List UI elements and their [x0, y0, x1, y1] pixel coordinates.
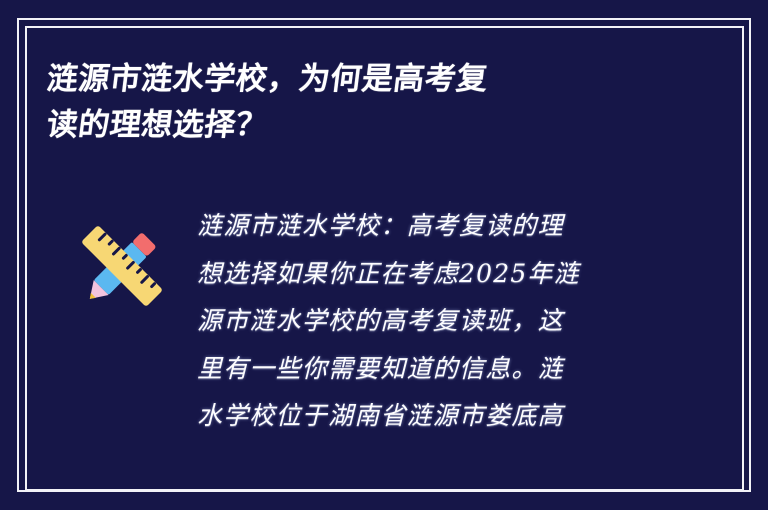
- ruler-pencil-icon: [70, 214, 174, 318]
- title-line-1: 涟源市涟水学校，为何是高考复: [44, 56, 610, 102]
- body-line-3: 源市涟水学校的高考复读班，这: [197, 297, 707, 345]
- body-line-1: 涟源市涟水学校：高考复读的理: [197, 202, 707, 250]
- page-title: 涟源市涟水学校，为何是高考复 读的理想选择？: [47, 56, 607, 148]
- content-row: 涟源市涟水学校：高考复读的理 想选择如果你正在考虑2025年涟 源市涟水学校的高…: [47, 200, 707, 440]
- body-line-2: 想选择如果你正在考虑2025年涟: [197, 250, 707, 298]
- article-poster: 涟源市涟水学校，为何是高考复 读的理想选择？: [0, 0, 768, 510]
- article-body: 涟源市涟水学校：高考复读的理 想选择如果你正在考虑2025年涟 源市涟水学校的高…: [197, 200, 707, 440]
- body-line-5: 水学校位于湖南省涟源市娄底高: [197, 392, 707, 440]
- title-line-2: 读的理想选择？: [44, 102, 610, 148]
- illustration-container: [47, 200, 197, 318]
- body-line-4: 里有一些你需要知道的信息。涟: [197, 345, 707, 393]
